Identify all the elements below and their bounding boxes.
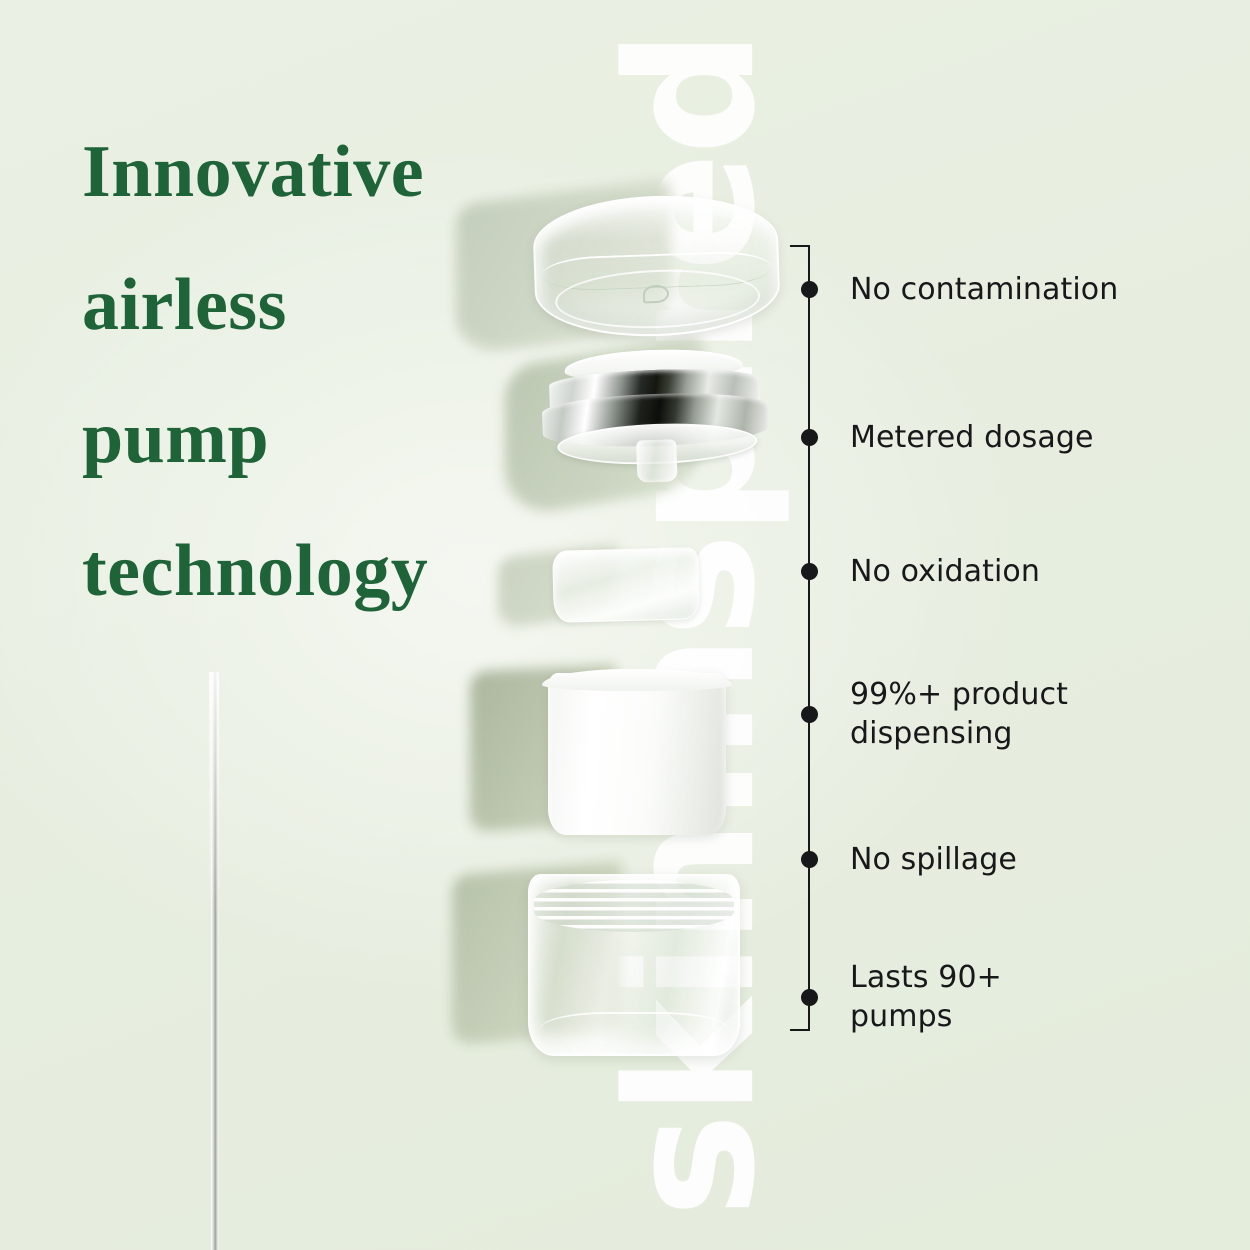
refill-cartridge-lip (542, 669, 732, 691)
feature-list: No contaminationMetered dosageNo oxidati… (790, 240, 1150, 1040)
headline-line-3: pump (82, 372, 552, 505)
jar-thread (534, 880, 734, 932)
feature-item-label: Metered dosage (850, 418, 1094, 457)
feature-item: No spillage (790, 840, 1017, 879)
feature-bracket (790, 240, 818, 1035)
headline-line-4: technology (82, 505, 552, 638)
feature-item: 99%+ product dispensing (790, 675, 1068, 753)
product-part-chrome-pump (536, 346, 772, 470)
feature-item-label: No spillage (850, 840, 1017, 879)
product-part-jar (528, 874, 740, 1056)
jar-bottom-edge (540, 1012, 728, 1046)
feature-bullet-dot-icon (801, 429, 818, 446)
feature-item: No contamination (790, 270, 1118, 309)
feature-item-label: No oxidation (850, 552, 1040, 591)
feature-item: Metered dosage (790, 418, 1094, 457)
feature-item-label: Lasts 90+ pumps (850, 958, 1002, 1036)
pump-nozzle (637, 439, 678, 482)
page-title: Innovative airless pump technology (82, 106, 552, 638)
feature-bullet-dot-icon (801, 706, 818, 723)
feature-item-label: No contamination (850, 270, 1118, 309)
feature-item: No oxidation (790, 552, 1040, 591)
product-part-gasket (552, 547, 700, 623)
feature-bullet-dot-icon (801, 281, 818, 298)
bracket-vertical-line (808, 245, 810, 1031)
feature-item-label: 99%+ product dispensing (850, 675, 1068, 753)
feature-bullet-dot-icon (801, 989, 818, 1006)
product-part-outer-cap (532, 192, 782, 340)
feature-item: Lasts 90+ pumps (790, 958, 1002, 1036)
headline-line-1: Innovative (82, 106, 552, 239)
product-part-dip-tube (209, 672, 219, 1250)
product-part-refill-cartridge (548, 673, 726, 835)
headline-line-2: airless (82, 239, 552, 372)
feature-bullet-dot-icon (801, 563, 818, 580)
poster-canvas: skinInspired Innovative airless pump tec… (0, 0, 1250, 1250)
feature-bullet-dot-icon (801, 851, 818, 868)
bracket-top-tick (790, 245, 810, 247)
